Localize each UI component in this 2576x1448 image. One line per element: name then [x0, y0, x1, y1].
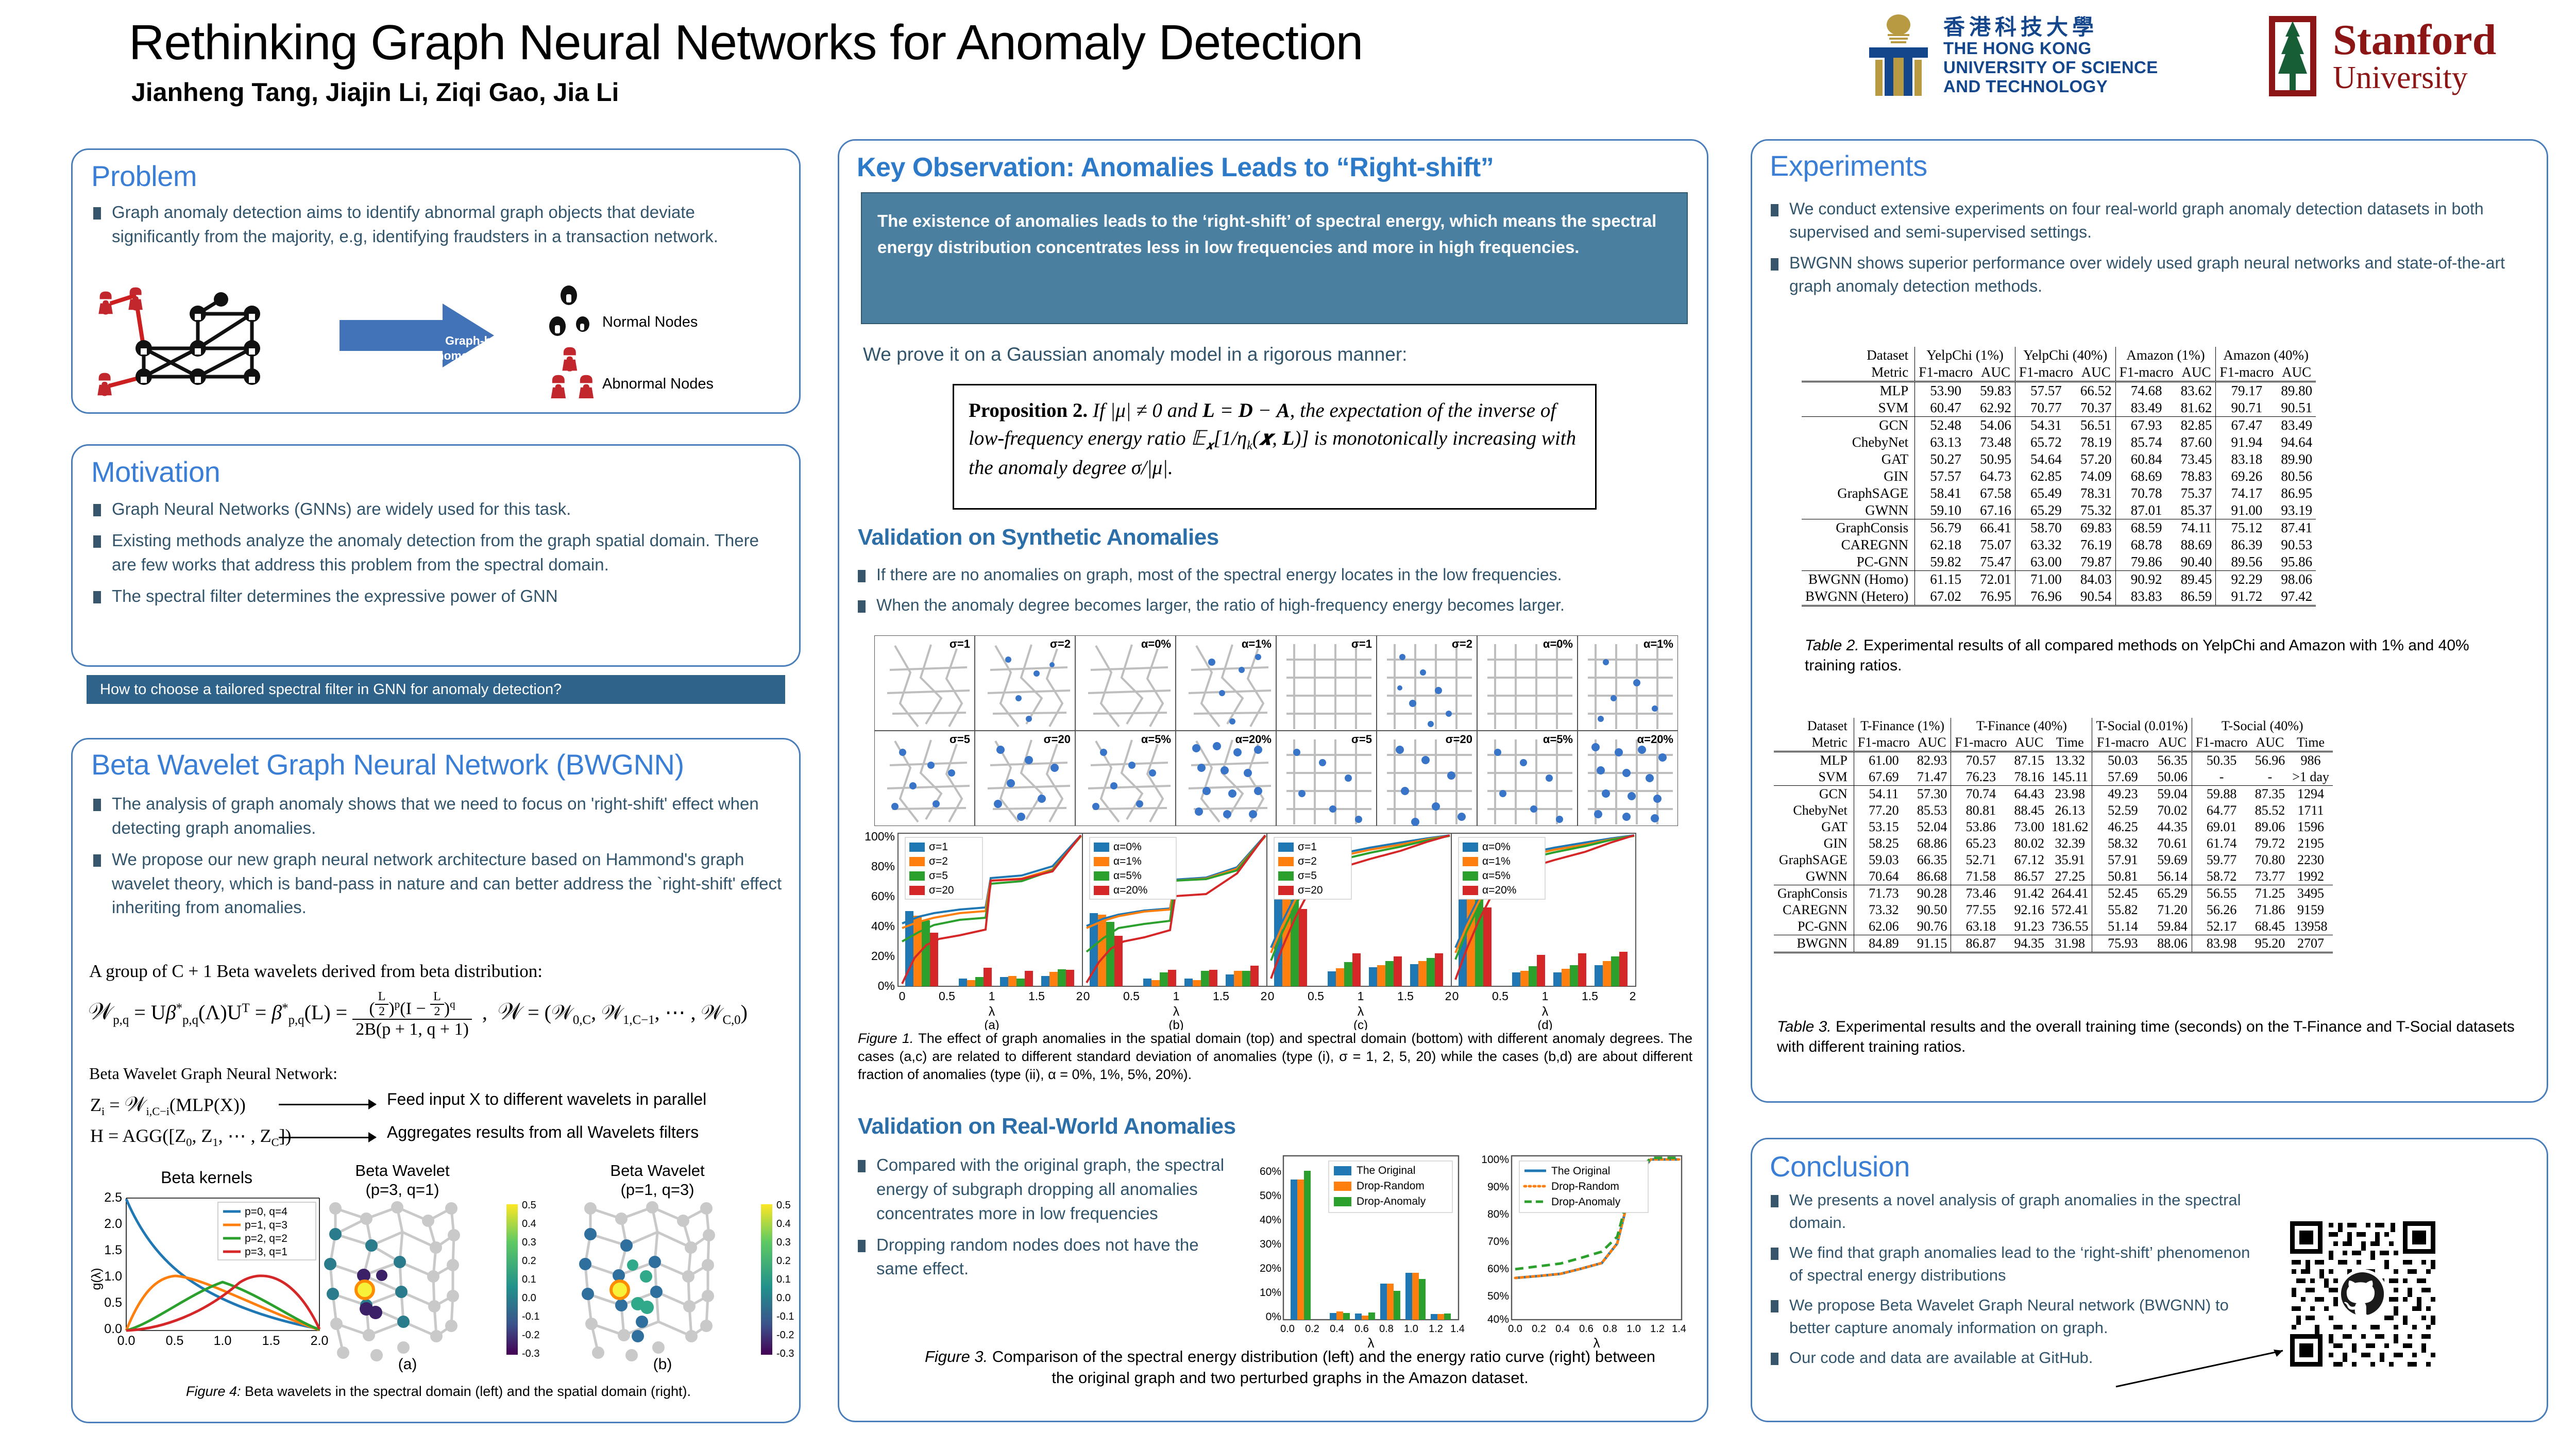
table-cell: 90.51 — [2277, 399, 2316, 417]
table-subheader-cell: AUC — [2277, 364, 2316, 382]
svg-text:0: 0 — [899, 989, 906, 1003]
table-header-row: DatasetT-Finance (1%)T-Finance (40%)T-So… — [1774, 718, 2333, 734]
table-row: GAT50.2750.9554.6457.2060.8473.4583.1889… — [1802, 451, 2316, 468]
table-cell: 71.25 — [2251, 885, 2289, 902]
panel-label-b: (b) — [570, 1356, 755, 1373]
svg-text:σ=2: σ=2 — [1298, 855, 1317, 867]
list-item: We find that graph anomalies lead to the… — [1766, 1241, 2260, 1287]
svg-text:p=3, q=1: p=3, q=1 — [245, 1246, 287, 1258]
svg-text:1.5: 1.5 — [1213, 989, 1229, 1003]
table-header-cell: T-Social (0.01%) — [2092, 718, 2192, 734]
table-cell: 90.40 — [2177, 553, 2216, 571]
problem-figure: Graph-based Anomaly Detection Normal Nod… — [87, 284, 785, 398]
table-row-label: SVM — [1774, 769, 1854, 786]
problem-bullet-list: Graph anomaly detection aims to identify… — [88, 200, 778, 256]
table-cell: 78.16 — [2010, 769, 2048, 786]
qr-pointer-arrow-icon — [2113, 1344, 2293, 1391]
table-cell: 71.00 — [2015, 571, 2076, 588]
svg-text:0: 0 — [1268, 989, 1275, 1003]
table-cell: 50.27 — [1915, 451, 1976, 468]
table-cell: 76.23 — [1951, 769, 2011, 786]
table-row-label: BWGNN (Homo) — [1802, 571, 1915, 588]
figure1-caption-lead: Figure 1. — [858, 1031, 913, 1046]
table-cell: 73.32 — [1854, 902, 1913, 918]
table-cell: 91.72 — [2216, 588, 2277, 606]
table-subheader-cell: Time — [2289, 734, 2333, 752]
svg-text:σ=5: σ=5 — [1298, 870, 1317, 882]
table-cell: 89.45 — [2177, 571, 2216, 588]
realworld-bullet-list: Compared with the original graph, the sp… — [853, 1153, 1244, 1288]
table-cell: 78.83 — [2177, 468, 2216, 485]
table2-caption: Table 2. Experimental results of all com… — [1805, 635, 2485, 676]
svg-text:0.4: 0.4 — [1555, 1323, 1570, 1335]
table-cell: 59.83 — [1976, 382, 2015, 400]
table-row: SVM67.6971.4776.2378.16145.1157.6950.06-… — [1774, 769, 2333, 786]
svg-text:σ=2: σ=2 — [1452, 637, 1472, 650]
svg-text:0.5: 0.5 — [1123, 989, 1140, 1003]
table-row-label: MLP — [1774, 752, 1854, 769]
table-row-label: BWGNN — [1774, 935, 1854, 953]
table-cell: 71.20 — [2153, 902, 2192, 918]
table-cell: 52.17 — [2192, 918, 2251, 935]
table-cell: 91.42 — [2010, 885, 2048, 902]
parallel-arrow-icon — [279, 1100, 376, 1109]
table-cell: 78.31 — [2077, 485, 2115, 502]
svg-text:-0.2: -0.2 — [776, 1329, 794, 1341]
table-cell: 145.11 — [2048, 769, 2092, 786]
table-subheader-cell: F1-macro — [1915, 364, 1976, 382]
table-cell: 60.84 — [2115, 451, 2177, 468]
list-item: We presents a novel analysis of graph an… — [1766, 1189, 2260, 1234]
table-cell: 572.41 — [2048, 902, 2092, 918]
table-cell: 23.98 — [2048, 786, 2092, 803]
beta-kernels-chart: 2.52.01.5 1.00.50.0 0.00.51.0 1.52.0 g(λ… — [85, 1189, 332, 1361]
table-header-cell: T-Social (40%) — [2192, 718, 2333, 734]
arrow-caption-line2: Anomaly Detection — [428, 349, 535, 362]
table-cell: 74.68 — [2115, 382, 2177, 400]
table-row-label: GraphConsis — [1774, 885, 1854, 902]
svg-text:α=1%: α=1% — [1482, 855, 1511, 867]
table-row-label: GCN — [1802, 417, 1915, 434]
table-cell: 70.57 — [1951, 752, 2011, 769]
table-subheader-cell: AUC — [1976, 364, 2015, 382]
svg-text:1.5: 1.5 — [1582, 989, 1598, 1003]
svg-text:80%: 80% — [1487, 1208, 1509, 1220]
table-cell: 87.01 — [2115, 502, 2177, 519]
svg-text:0.5: 0.5 — [939, 989, 955, 1003]
key-observation-heading: Key Observation: Anomalies Leads to “Rig… — [857, 152, 1494, 183]
table-row: BWGNN (Hetero)67.0276.9576.9690.5483.838… — [1802, 588, 2316, 606]
table-row: SVM60.4762.9270.7770.3783.4981.6290.7190… — [1802, 399, 2316, 417]
svg-text:σ=2: σ=2 — [1050, 637, 1071, 650]
table-cell: 50.06 — [2153, 769, 2192, 786]
svg-text:The Original: The Original — [1551, 1165, 1610, 1177]
table-row: GCN52.4854.0654.3156.5167.9382.8567.4783… — [1802, 417, 2316, 434]
table-cell: 90.71 — [2216, 399, 2277, 417]
table-subheader-cell: F1-macro — [2092, 734, 2153, 752]
table-row-label: GWNN — [1774, 868, 1854, 885]
table-cell: 1596 — [2289, 819, 2333, 835]
key-observation-callout: The existence of anomalies leads to the … — [861, 192, 1688, 324]
table-cell: 75.47 — [1976, 553, 2015, 571]
table-cell: 50.35 — [2192, 752, 2251, 769]
hkust-mark-icon — [1865, 13, 1932, 98]
svg-text:60%: 60% — [1487, 1263, 1509, 1275]
poster-root: Rethinking Graph Neural Networks for Ano… — [0, 0, 2576, 1448]
table3-caption: Table 3. Experimental results and the ov… — [1777, 1017, 2519, 1057]
table-header-row: DatasetYelpChi (1%)YelpChi (40%)Amazon (… — [1802, 347, 2316, 364]
synthetic-bullet-list: If there are no anomalies on graph, most… — [853, 563, 1692, 625]
arrow-caption-line1: Graph-based — [445, 334, 518, 347]
table-cell: 66.41 — [1976, 519, 2015, 537]
table-cell: 76.95 — [1976, 588, 2015, 606]
svg-text:α=5%: α=5% — [1113, 870, 1142, 882]
table-cell: 87.41 — [2277, 519, 2316, 537]
table-row-label: GraphConsis — [1802, 519, 1915, 537]
table-cell: 67.93 — [2115, 417, 2177, 434]
table-cell: 52.71 — [1951, 852, 2011, 868]
panel-conclusion: Conclusion We presents a novel analysis … — [1751, 1138, 2548, 1422]
table-row: MLP53.9059.8357.5766.5274.6883.6279.1789… — [1802, 382, 2316, 400]
table-cell: 46.25 — [2092, 819, 2153, 835]
table-cell: 67.58 — [1976, 485, 2015, 502]
svg-text:10%: 10% — [1260, 1287, 1281, 1299]
table-subheader-cell: AUC — [2153, 734, 2192, 752]
svg-text:1.5: 1.5 — [1028, 989, 1045, 1003]
stanford-wordmark: Stanford — [2333, 19, 2496, 62]
figure4-caption-text: Beta wavelets in the spectral domain (le… — [241, 1384, 691, 1399]
panel-experiments: Experiments We conduct extensive experim… — [1751, 139, 2548, 1103]
proposition-label: Proposition 2. — [969, 399, 1088, 422]
table-cell: 83.18 — [2216, 451, 2277, 468]
svg-text:0.5: 0.5 — [104, 1295, 122, 1310]
svg-text:0%: 0% — [1266, 1311, 1281, 1323]
table-cell: 70.77 — [2015, 399, 2076, 417]
svg-text:0.0: 0.0 — [1508, 1323, 1522, 1335]
table-cell: 95.86 — [2277, 553, 2316, 571]
svg-text:α=20%: α=20% — [1235, 733, 1272, 746]
figure3-caption-lead: Figure 3. — [925, 1348, 988, 1366]
svg-text:σ=20: σ=20 — [1044, 733, 1071, 746]
table-cell: 65.72 — [2015, 434, 2076, 451]
svg-text:1: 1 — [989, 989, 995, 1003]
svg-text:λ: λ — [1542, 1004, 1549, 1019]
table-cell: 76.19 — [2077, 536, 2115, 553]
table-cell: 65.29 — [2153, 885, 2192, 902]
svg-text:σ=20: σ=20 — [929, 884, 954, 896]
table2-container: DatasetYelpChi (1%)YelpChi (40%)Amazon (… — [1802, 347, 2316, 607]
table-cell: 82.93 — [1913, 752, 1951, 769]
table-cell: 74.17 — [2216, 485, 2277, 502]
table-cell: 80.81 — [1951, 802, 2011, 819]
table-header-cell: Dataset — [1774, 718, 1854, 734]
svg-text:0.5: 0.5 — [166, 1334, 184, 1348]
table-cell: 86.95 — [2277, 485, 2316, 502]
svg-text:p=0, q=4: p=0, q=4 — [245, 1206, 287, 1218]
svg-text:0.0: 0.0 — [776, 1292, 791, 1304]
table-cell: 67.47 — [2216, 417, 2277, 434]
arrow-label-group: Graph-based Anomaly Detection — [417, 316, 587, 381]
table-cell: 72.01 — [1976, 571, 2015, 588]
table-row-label: GraphSAGE — [1774, 852, 1854, 868]
table-subheader-cell: F1-macro — [2216, 364, 2277, 382]
motivation-bullet-list: Graph Neural Networks (GNNs) are widely … — [88, 497, 784, 615]
table-header-cell: YelpChi (40%) — [2015, 347, 2115, 364]
svg-text:1.2: 1.2 — [1650, 1323, 1665, 1335]
table-cell: 75.32 — [2077, 502, 2115, 519]
table-row: GWNN70.6486.6871.5886.5727.2550.8156.145… — [1774, 868, 2333, 885]
svg-text:Drop-Random: Drop-Random — [1357, 1180, 1425, 1192]
table-cell: 90.50 — [1913, 902, 1951, 918]
svg-text:50%: 50% — [1260, 1190, 1281, 1202]
table-row-label: GAT — [1774, 819, 1854, 835]
table-cell: 64.77 — [2192, 802, 2251, 819]
table-cell: 80.56 — [2277, 468, 2316, 485]
table-row: BWGNN84.8991.1586.8794.3531.9875.9388.06… — [1774, 935, 2333, 953]
table-cell: 73.00 — [2010, 819, 2048, 835]
table-cell: 91.00 — [2216, 502, 2277, 519]
svg-text:α=0%: α=0% — [1543, 637, 1573, 650]
svg-text:0.5: 0.5 — [522, 1200, 536, 1211]
table-cell: 79.86 — [2115, 553, 2177, 571]
page-title: Rethinking Graph Neural Networks for Ano… — [129, 14, 1363, 71]
table-cell: 88.69 — [2177, 536, 2216, 553]
table-cell: 63.32 — [2015, 536, 2076, 553]
table-cell: 80.02 — [2010, 835, 2048, 852]
svg-text:2.0: 2.0 — [104, 1217, 122, 1231]
figure3-charts: 60%50%40% 30%20%10%0% — [1251, 1151, 1689, 1359]
svg-text:1.0: 1.0 — [1626, 1323, 1641, 1335]
table3-container: DatasetT-Finance (1%)T-Finance (40%)T-So… — [1774, 718, 2333, 953]
table-row: CAREGNN62.1875.0763.3276.1968.7888.6986.… — [1802, 536, 2316, 553]
table-cell: 264.41 — [2048, 885, 2092, 902]
table-row: MLP61.0082.9370.5787.1513.3250.0356.3550… — [1774, 752, 2333, 769]
table-cell: 53.15 — [1854, 819, 1913, 835]
table-subheader-cell: F1-macro — [1951, 734, 2011, 752]
table-cell: 59.69 — [2153, 852, 2192, 868]
svg-text:0.5: 0.5 — [1308, 989, 1324, 1003]
realworld-validation-heading: Validation on Real-World Anomalies — [858, 1114, 1236, 1139]
table-cell: 56.14 — [2153, 868, 2192, 885]
table-cell: 75.37 — [2177, 485, 2216, 502]
svg-text:α=20%: α=20% — [1637, 733, 1673, 746]
list-item: Compared with the original graph, the sp… — [853, 1153, 1244, 1226]
table-cell: 98.06 — [2277, 571, 2316, 588]
svg-text:1.5: 1.5 — [262, 1334, 280, 1348]
table-row-label: ChebyNet — [1802, 434, 1915, 451]
svg-text:2: 2 — [1076, 989, 1083, 1003]
table-cell: 91.23 — [2010, 918, 2048, 935]
svg-text:0.1: 0.1 — [776, 1274, 791, 1285]
colorbar-b: 0.50.40.3 0.20.10.0 -0.1-0.2-0.3 — [758, 1198, 820, 1371]
table-cell: 57.91 — [2092, 852, 2153, 868]
svg-text:1.5: 1.5 — [1397, 989, 1414, 1003]
table-cell: 57.20 — [2077, 451, 2115, 468]
table-cell: 70.74 — [1951, 786, 2011, 803]
svg-text:1.0: 1.0 — [214, 1334, 232, 1348]
github-qr-code-icon[interactable] — [2285, 1217, 2440, 1371]
proposition-box: Proposition 2. If |μ| ≠ 0 and L = D − A,… — [953, 384, 1597, 510]
table-cell: 81.62 — [2177, 399, 2216, 417]
table-header-cell: Amazon (40%) — [2216, 347, 2316, 364]
table-cell: 2195 — [2289, 835, 2333, 852]
table-subheader-cell: Metric — [1774, 734, 1854, 752]
table-cell: 86.39 — [2216, 536, 2277, 553]
table-subheader-cell: AUC — [2010, 734, 2048, 752]
table-cell: 68.78 — [2115, 536, 2177, 553]
svg-text:0.4: 0.4 — [776, 1218, 791, 1230]
table-cell: 79.87 — [2077, 553, 2115, 571]
svg-text:α=1%: α=1% — [1113, 855, 1142, 867]
table-subheader-cell: AUC — [2251, 734, 2289, 752]
table-row: CAREGNN73.3290.5077.5592.16572.4155.8271… — [1774, 902, 2333, 918]
table-cell: 77.20 — [1854, 802, 1913, 819]
beta-wavelet-b-title: Beta Wavelet (p=1, q=3) — [554, 1161, 760, 1199]
svg-text:100%: 100% — [1481, 1154, 1509, 1166]
svg-text:40%: 40% — [1487, 1314, 1509, 1325]
svg-text:-0.3: -0.3 — [776, 1348, 794, 1359]
table-cell: 57.57 — [2015, 382, 2076, 400]
table-cell: 31.98 — [2048, 935, 2092, 953]
svg-text:0.4: 0.4 — [522, 1218, 536, 1230]
figure3-caption: Figure 3. Comparison of the spectral ene… — [917, 1346, 1664, 1389]
panel-key-observation: Key Observation: Anomalies Leads to “Rig… — [838, 139, 1708, 1422]
table-cell: 2707 — [2289, 935, 2333, 953]
table-cell: 9159 — [2289, 902, 2333, 918]
bwgnn-h-equation: H = AGG([Z0, Z1, ⋯ , ZC]) — [90, 1125, 291, 1149]
table-cell: 68.69 — [2115, 468, 2177, 485]
beta-kernels-ylabel: g(λ) — [89, 1268, 104, 1290]
table-cell: 89.90 — [2277, 451, 2316, 468]
table-cell: 70.61 — [2153, 835, 2192, 852]
figure4-caption-lead: Figure 4: — [186, 1384, 241, 1399]
bwgnn-heading: Beta Wavelet Graph Neural Network (BWGNN… — [91, 748, 684, 781]
table-cell: 60.47 — [1915, 399, 1976, 417]
table-subheader-cell: Time — [2048, 734, 2092, 752]
table-cell: 63.18 — [1951, 918, 2011, 935]
table-cell: 91.15 — [1913, 935, 1951, 953]
svg-text:1.5: 1.5 — [104, 1243, 122, 1257]
list-item: We propose our new graph neural network … — [88, 848, 784, 920]
table-subheader-cell: AUC — [1913, 734, 1951, 752]
figure4-caption: Figure 4: Beta wavelets in the spectral … — [93, 1383, 784, 1401]
normal-nodes-label: Normal Nodes — [602, 314, 698, 331]
table-cell: 58.70 — [2015, 519, 2076, 537]
list-item: Graph Neural Networks (GNNs) are widely … — [88, 497, 784, 521]
svg-text:70%: 70% — [1487, 1236, 1509, 1248]
table-cell: 75.12 — [2216, 519, 2277, 537]
table-row-label: BWGNN (Hetero) — [1802, 588, 1915, 606]
table-cell: 65.49 — [2015, 485, 2076, 502]
table-cell: 44.35 — [2153, 819, 2192, 835]
table-cell: 90.76 — [1913, 918, 1951, 935]
table-cell: 56.51 — [2077, 417, 2115, 434]
svg-text:60%: 60% — [1260, 1166, 1281, 1177]
svg-text:α=0%: α=0% — [1141, 637, 1171, 650]
table-cell: 58.41 — [1915, 485, 1976, 502]
table-cell: 59.10 — [1915, 502, 1976, 519]
hkust-line-1: THE HONG KONG — [1943, 39, 2158, 58]
svg-text:0.2: 0.2 — [522, 1255, 536, 1267]
svg-text:90%: 90% — [1487, 1181, 1509, 1193]
beta-wavelet-a-graph — [315, 1198, 500, 1371]
table-row: PC-GNN59.8275.4763.0079.8779.8690.4089.5… — [1802, 553, 2316, 571]
svg-text:λ: λ — [989, 1004, 995, 1019]
colorbar-a: 0.50.40.3 0.20.10.0 -0.1-0.2-0.3 — [503, 1198, 565, 1371]
table-cell: 76.96 — [2015, 588, 2076, 606]
table-row: BWGNN (Homo)61.1572.0171.0084.0390.9289.… — [1802, 571, 2316, 588]
table-cell: 27.25 — [2048, 868, 2092, 885]
table-cell: 90.54 — [2077, 588, 2115, 606]
beta-wavelet-a-title-l1: Beta Wavelet — [299, 1161, 505, 1180]
list-item: We conduct extensive experiments on four… — [1766, 197, 2523, 244]
table-cell: 85.37 — [2177, 502, 2216, 519]
svg-text:2.5: 2.5 — [104, 1190, 122, 1205]
hkust-line-2: UNIVERSITY OF SCIENCE — [1943, 58, 2158, 77]
table-cell: 67.69 — [1854, 769, 1913, 786]
stanford-tree-icon: S — [2262, 12, 2324, 100]
svg-text:60%: 60% — [871, 889, 895, 903]
table-subheader-cell: F1-macro — [1854, 734, 1913, 752]
aggregate-annotation: Aggregates results from all Wavelets fil… — [387, 1123, 699, 1142]
table-results-3: DatasetT-Finance (1%)T-Finance (40%)T-So… — [1774, 718, 2333, 953]
list-item: We propose Beta Wavelet Graph Neural net… — [1766, 1294, 2260, 1339]
table-cell: 3495 — [2289, 885, 2333, 902]
bwgnn-bullet-list: The analysis of graph anomaly shows that… — [88, 792, 784, 927]
panel-label-a: (a) — [315, 1356, 500, 1373]
table-row-label: PC-GNN — [1802, 553, 1915, 571]
table-cell: 71.73 — [1854, 885, 1913, 902]
figure1-spectral-charts: 100%80%60% 40%20%0% — [861, 829, 1680, 1033]
svg-text:20%: 20% — [871, 949, 895, 963]
table-cell: 57.57 — [1915, 468, 1976, 485]
table-header-cell: Dataset — [1802, 347, 1915, 364]
beta-wavelet-a-title-l2: (p=3, q=1) — [299, 1180, 505, 1199]
svg-text:40%: 40% — [871, 919, 895, 933]
table-cell: 75.93 — [2092, 935, 2153, 953]
table-cell: 67.12 — [2010, 852, 2048, 868]
svg-text:100%: 100% — [865, 830, 895, 843]
figure1-caption-text: The effect of graph anomalies in the spa… — [858, 1031, 1692, 1082]
svg-text:1: 1 — [1542, 989, 1549, 1003]
table-cell: 56.26 — [2192, 902, 2251, 918]
svg-text:0.0: 0.0 — [522, 1292, 536, 1304]
svg-text:The Original: The Original — [1357, 1165, 1415, 1176]
table-cell: 59.04 — [2153, 786, 2192, 803]
svg-text:0.6: 0.6 — [1354, 1323, 1369, 1335]
table-row-label: GCN — [1774, 786, 1854, 803]
table-subheader-cell: AUC — [2077, 364, 2115, 382]
svg-text:α=20%: α=20% — [1482, 884, 1516, 896]
svg-text:30%: 30% — [1260, 1238, 1281, 1250]
table-cell: 55.82 — [2092, 902, 2153, 918]
table-results-2: DatasetYelpChi (1%)YelpChi (40%)Amazon (… — [1802, 347, 2316, 607]
svg-text:1.0: 1.0 — [1404, 1323, 1418, 1335]
table-subheader-cell: AUC — [2177, 364, 2216, 382]
svg-text:σ=20: σ=20 — [1298, 884, 1323, 896]
table-cell: 68.86 — [1913, 835, 1951, 852]
table-cell: 58.72 — [2192, 868, 2251, 885]
table-cell: 59.03 — [1854, 852, 1913, 868]
table-cell: 83.98 — [2192, 935, 2251, 953]
table-cell: 56.35 — [2153, 752, 2192, 769]
table-cell: 82.85 — [2177, 417, 2216, 434]
table-cell: 35.91 — [2048, 852, 2092, 868]
table-cell: 83.49 — [2115, 399, 2177, 417]
table-cell: 94.64 — [2277, 434, 2316, 451]
table-cell: 88.06 — [2153, 935, 2192, 953]
svg-text:0.0: 0.0 — [117, 1334, 135, 1348]
